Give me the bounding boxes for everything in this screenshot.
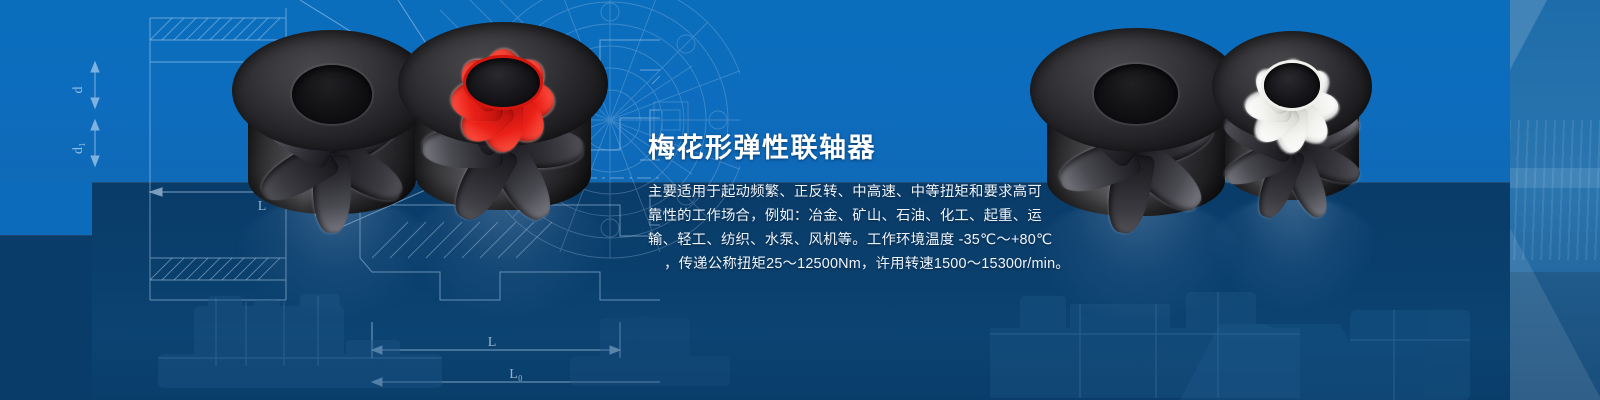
banner-copy: 梅花形弹性联轴器 主要适用于起动频繁、正反转、中高速、中等扭矩和要求高可 靠性的… bbox=[648, 132, 1068, 276]
insert-center-bore bbox=[466, 58, 539, 107]
hub-bore bbox=[1094, 64, 1179, 124]
coupling-hub-red-insert bbox=[398, 10, 608, 210]
banner-left-step-light bbox=[0, 182, 92, 235]
description-line-1: 主要适用于起动频繁、正反转、中高速、中等扭矩和要求高可 bbox=[648, 180, 1068, 204]
right-panel-machine-ribs bbox=[1510, 120, 1600, 260]
description-line-4: ，传递公称扭矩25～12500Nm，许用转速1500～15300r/min。 bbox=[648, 252, 1068, 276]
banner-left-step-dark bbox=[0, 235, 92, 400]
banner-right-panel bbox=[1510, 0, 1600, 400]
insert-center-bore bbox=[1264, 63, 1320, 107]
description-line-2: 靠性的工作场合，例如：冶金、矿山、石油、化工、起重、运 bbox=[648, 204, 1068, 228]
elastomer-insert-red bbox=[423, 30, 583, 142]
product-banner: L L L₀ S D d d₁ L bbox=[0, 0, 1600, 400]
description-line-3: 输、轻工、纺织、水泵、风机等。工作环境温度 -35℃～+80℃ bbox=[648, 228, 1068, 252]
banner-title: 梅花形弹性联轴器 bbox=[648, 132, 1068, 164]
hub-bore bbox=[292, 65, 372, 124]
banner-description: 主要适用于起动频繁、正反转、中高速、中等扭矩和要求高可 靠性的工作场合，例如：冶… bbox=[648, 180, 1068, 276]
elastomer-insert-white bbox=[1231, 38, 1353, 139]
coupling-hub-white-insert bbox=[1212, 20, 1372, 200]
band-divider-left bbox=[0, 235, 92, 236]
